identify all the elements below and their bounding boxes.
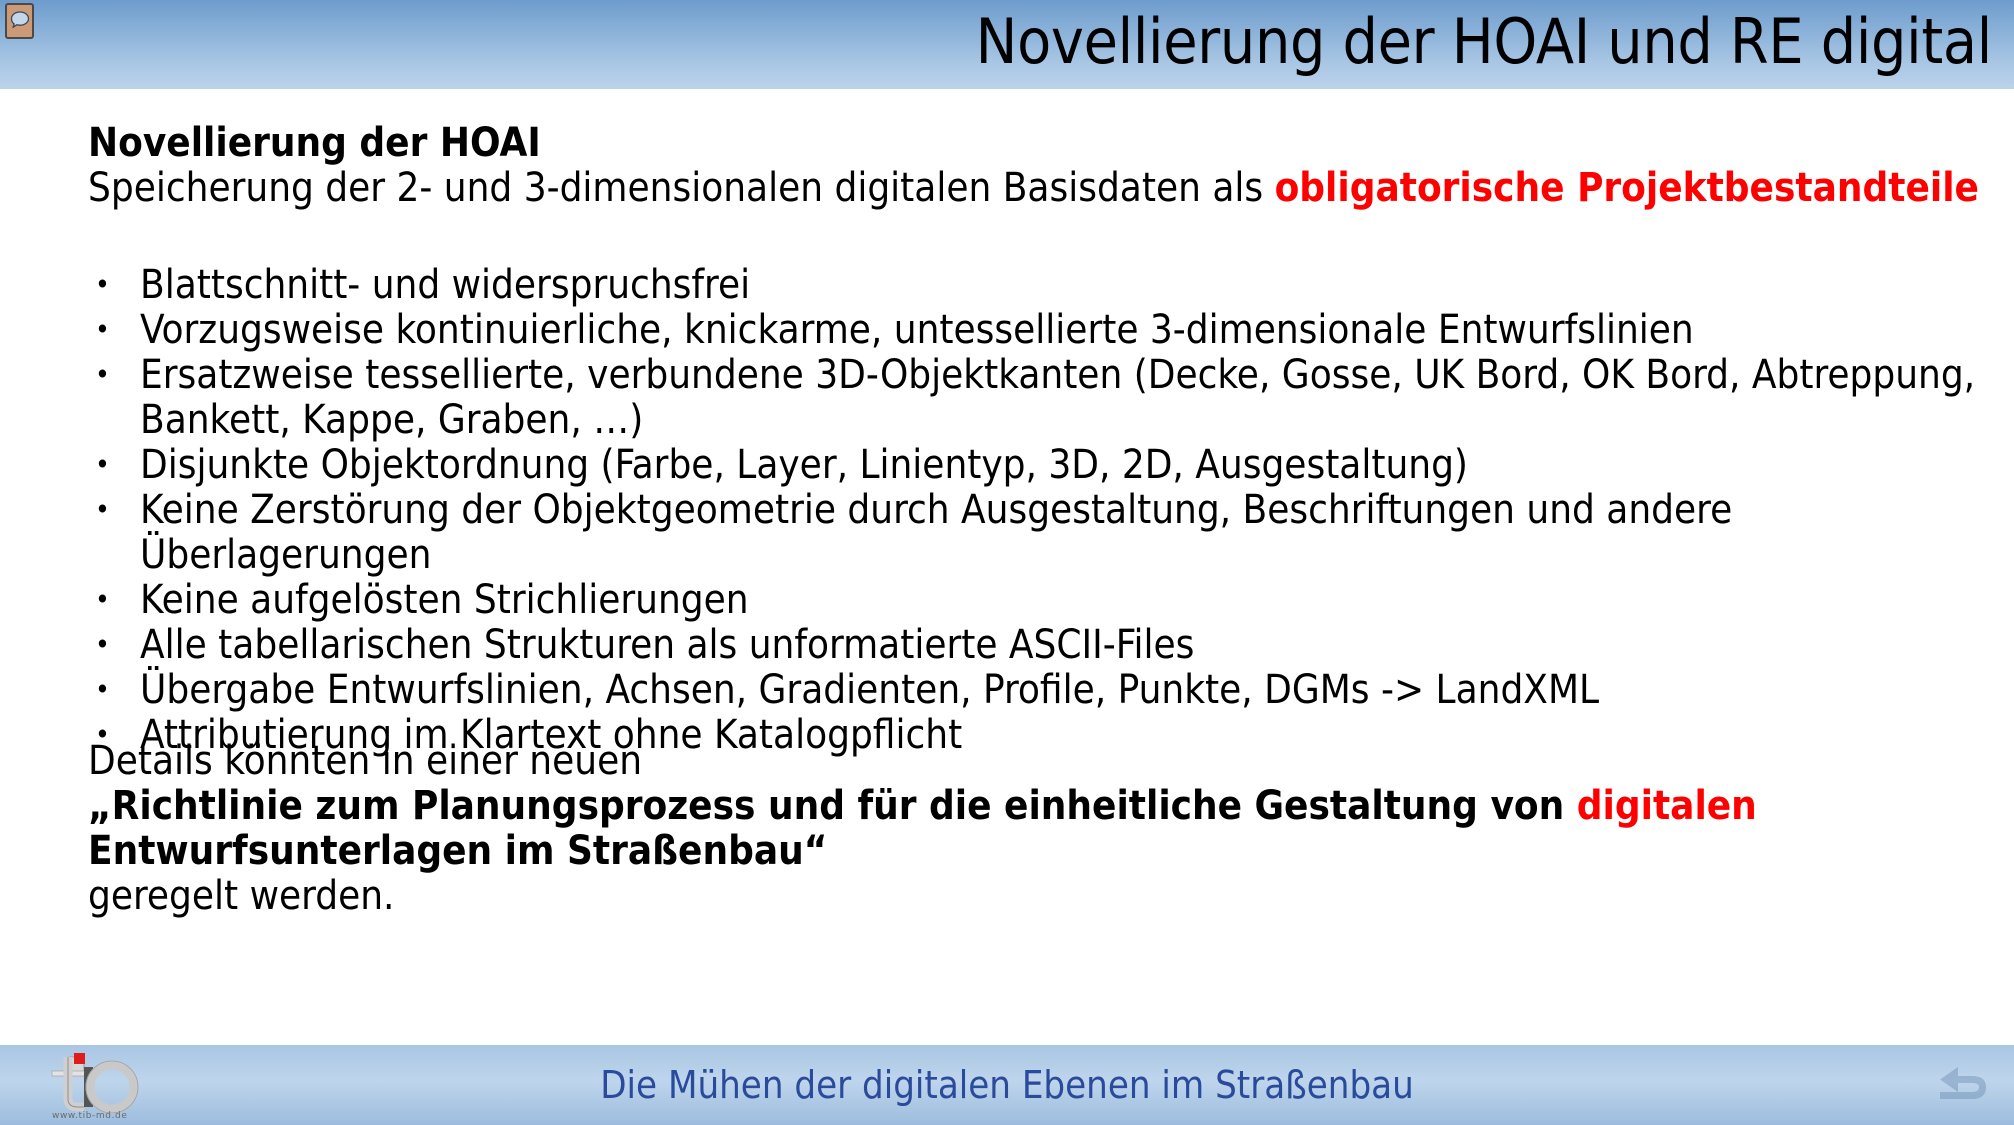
slide-header: Novellierung der HOAI und RE digital: [0, 0, 2014, 89]
list-item: Blattschnitt- und widerspruchsfrei: [88, 263, 1988, 308]
bullet-text: Blattschnitt- und widerspruchsfrei: [140, 262, 750, 308]
list-item: Disjunkte Objektordnung (Farbe, Layer, L…: [88, 443, 1988, 488]
list-item: Alle tabellarischen Strukturen als unfor…: [88, 623, 1988, 668]
bullet-text: Ersatzweise tessellierte, verbundene 3D-…: [140, 352, 1975, 398]
intro-highlight: obligatorische Projektbestandteile: [1275, 165, 1979, 211]
bullet-text: Vorzugsweise kontinuierliche, knickarme,…: [140, 307, 1694, 353]
list-item: Vorzugsweise kontinuierliche, knickarme,…: [88, 308, 1988, 353]
slide-body: Novellierung der HOAI Speicherung der 2-…: [0, 89, 2014, 1045]
body-top-block: Novellierung der HOAI Speicherung der 2-…: [88, 121, 1988, 758]
closing-block: Details könnten in einer neuen „Richtlin…: [88, 739, 1988, 919]
closing-quote-highlight: digitalen: [1577, 783, 1757, 829]
list-item: Keine Zerstörung der Objektgeometrie dur…: [88, 488, 1988, 578]
closing-quote-part1: „Richtlinie zum Planungsprozess und für …: [88, 783, 1577, 829]
section-heading: Novellierung der HOAI: [88, 121, 1988, 166]
bullet-text-line2: Bankett, Kappe, Graben, …): [140, 398, 1988, 443]
closing-tail: geregelt werden.: [88, 874, 1988, 919]
presentation-slide: Novellierung der HOAI und RE digital Nov…: [0, 0, 2014, 1125]
closing-quote-line2: Entwurfsunterlagen im Straßenbau“: [88, 829, 1988, 874]
slide-footer: www.tib-md.de Die Mühen der digitalen Eb…: [0, 1045, 2014, 1125]
bullet-list: Blattschnitt- und widerspruchsfrei Vorzu…: [88, 263, 1988, 758]
spacer: [88, 211, 1988, 263]
list-item: Ersatzweise tessellierte, verbundene 3D-…: [88, 353, 1988, 443]
back-arrow-icon[interactable]: [1936, 1061, 1992, 1109]
closing-lead: Details könnten in einer neuen: [88, 739, 1988, 784]
list-item: Übergabe Entwurfslinien, Achsen, Gradien…: [88, 668, 1988, 713]
bullet-text: Keine Zerstörung der Objektgeometrie dur…: [140, 487, 1732, 578]
intro-prefix: Speicherung der 2- und 3-dimensionalen d…: [88, 165, 1275, 211]
list-item: Keine aufgelösten Strichlierungen: [88, 578, 1988, 623]
intro-line: Speicherung der 2- und 3-dimensionalen d…: [88, 166, 1988, 211]
logo-url-text: www.tib-md.de: [52, 1111, 128, 1121]
closing-quote-line1: „Richtlinie zum Planungsprozess und für …: [88, 784, 1988, 829]
bullet-text: Alle tabellarischen Strukturen als unfor…: [140, 622, 1194, 668]
bullet-text: Keine aufgelösten Strichlierungen: [140, 577, 749, 623]
page-title: Novellierung der HOAI und RE digital: [976, 2, 1992, 82]
speech-bubble-icon[interactable]: [5, 3, 34, 39]
bullet-text: Übergabe Entwurfslinien, Achsen, Gradien…: [140, 667, 1599, 713]
footer-title: Die Mühen der digitalen Ebenen im Straße…: [0, 1063, 2014, 1107]
bullet-text: Disjunkte Objektordnung (Farbe, Layer, L…: [140, 442, 1468, 488]
